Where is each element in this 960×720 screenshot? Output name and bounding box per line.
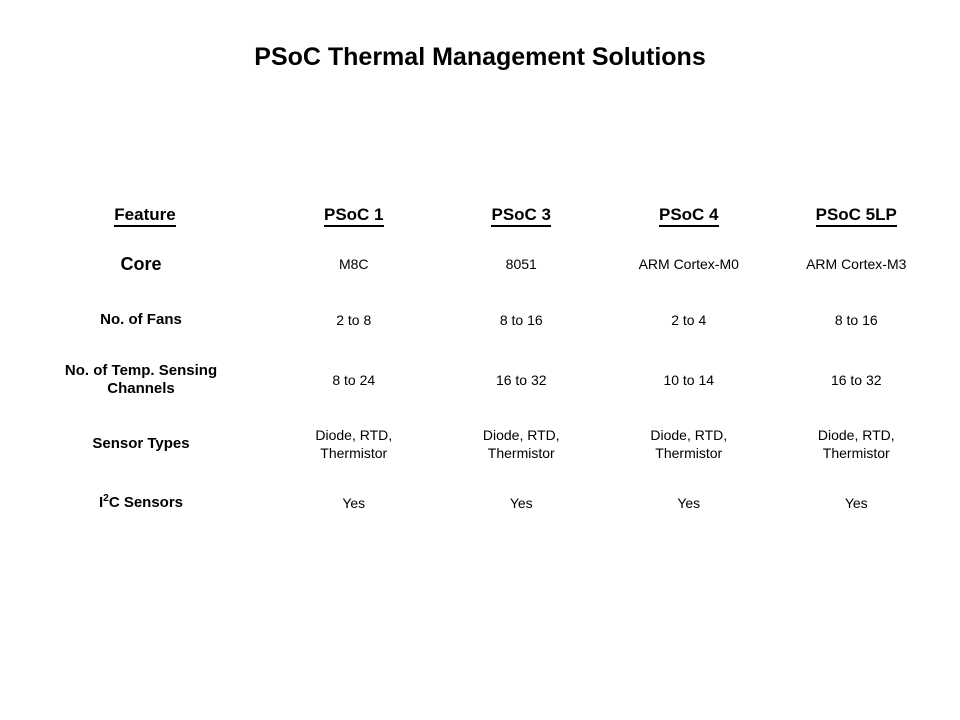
row-label-temp-sensing-channels: No. of Temp. Sensing Channels	[20, 348, 270, 412]
cell-line1: Diode, RTD,	[270, 426, 438, 444]
cell-line1: Diode, RTD,	[438, 426, 606, 444]
cell-i2c-psoc1: Yes	[270, 476, 438, 530]
row-label-line2: Channels	[20, 380, 262, 398]
column-header-psoc5lp: PSoC 5LP	[773, 196, 941, 236]
cell-line1: Diode, RTD,	[773, 426, 941, 444]
column-header-psoc3: PSoC 3	[438, 196, 606, 236]
cell-line2: Thermistor	[438, 444, 606, 462]
slide-canvas: PSoC Thermal Management Solutions Featur…	[0, 0, 960, 720]
cell-sensor-types-psoc3: Diode, RTD, Thermistor	[438, 412, 606, 476]
cell-sensor-types-psoc1: Diode, RTD, Thermistor	[270, 412, 438, 476]
table-row: No. of Fans 2 to 8 8 to 16 2 to 4 8 to 1…	[20, 292, 940, 348]
cell-fans-psoc1: 2 to 8	[270, 292, 438, 348]
cell-sensor-types-psoc5lp: Diode, RTD, Thermistor	[773, 412, 941, 476]
table-row: Sensor Types Diode, RTD, Thermistor Diod…	[20, 412, 940, 476]
column-header-psoc3-label: PSoC 3	[491, 205, 551, 227]
cell-core-psoc4: ARM Cortex-M0	[605, 236, 773, 292]
cell-core-psoc5lp: ARM Cortex-M3	[773, 236, 941, 292]
cell-line2: Thermistor	[270, 444, 438, 462]
column-header-psoc1-label: PSoC 1	[324, 205, 384, 227]
table-row: I2C Sensors Yes Yes Yes Yes	[20, 476, 940, 530]
column-header-psoc4-label: PSoC 4	[659, 205, 719, 227]
cell-channels-psoc3: 16 to 32	[438, 348, 606, 412]
page-title: PSoC Thermal Management Solutions	[0, 42, 960, 72]
cell-line2: Thermistor	[605, 444, 773, 462]
cell-channels-psoc4: 10 to 14	[605, 348, 773, 412]
cell-line1: Diode, RTD,	[605, 426, 773, 444]
comparison-table: Feature PSoC 1 PSoC 3 PSoC 4 PSoC 5LP C	[20, 196, 940, 530]
column-header-feature: Feature	[20, 196, 270, 236]
table-row: No. of Temp. Sensing Channels 8 to 24 16…	[20, 348, 940, 412]
table-header-row: Feature PSoC 1 PSoC 3 PSoC 4 PSoC 5LP	[20, 196, 940, 236]
cell-channels-psoc1: 8 to 24	[270, 348, 438, 412]
row-label-i2c-sensors: I2C Sensors	[20, 476, 270, 530]
cell-fans-psoc5lp: 8 to 16	[773, 292, 941, 348]
row-label-core: Core	[20, 236, 270, 292]
row-label-sensor-types: Sensor Types	[20, 412, 270, 476]
cell-fans-psoc3: 8 to 16	[438, 292, 606, 348]
column-header-psoc1: PSoC 1	[270, 196, 438, 236]
cell-i2c-psoc3: Yes	[438, 476, 606, 530]
row-label-no-of-fans: No. of Fans	[20, 292, 270, 348]
row-label-line1: No. of Temp. Sensing	[20, 362, 262, 380]
cell-i2c-psoc4: Yes	[605, 476, 773, 530]
column-header-psoc4: PSoC 4	[605, 196, 773, 236]
cell-core-psoc1: M8C	[270, 236, 438, 292]
column-header-feature-label: Feature	[114, 205, 175, 227]
column-header-psoc5lp-label: PSoC 5LP	[816, 205, 897, 227]
cell-line2: Thermistor	[773, 444, 941, 462]
row-label-i2c-suffix: C Sensors	[109, 494, 183, 511]
cell-fans-psoc4: 2 to 4	[605, 292, 773, 348]
table-row: Core M8C 8051 ARM Cortex-M0 ARM Cortex-M…	[20, 236, 940, 292]
cell-channels-psoc5lp: 16 to 32	[773, 348, 941, 412]
cell-core-psoc3: 8051	[438, 236, 606, 292]
cell-i2c-psoc5lp: Yes	[773, 476, 941, 530]
cell-sensor-types-psoc4: Diode, RTD, Thermistor	[605, 412, 773, 476]
